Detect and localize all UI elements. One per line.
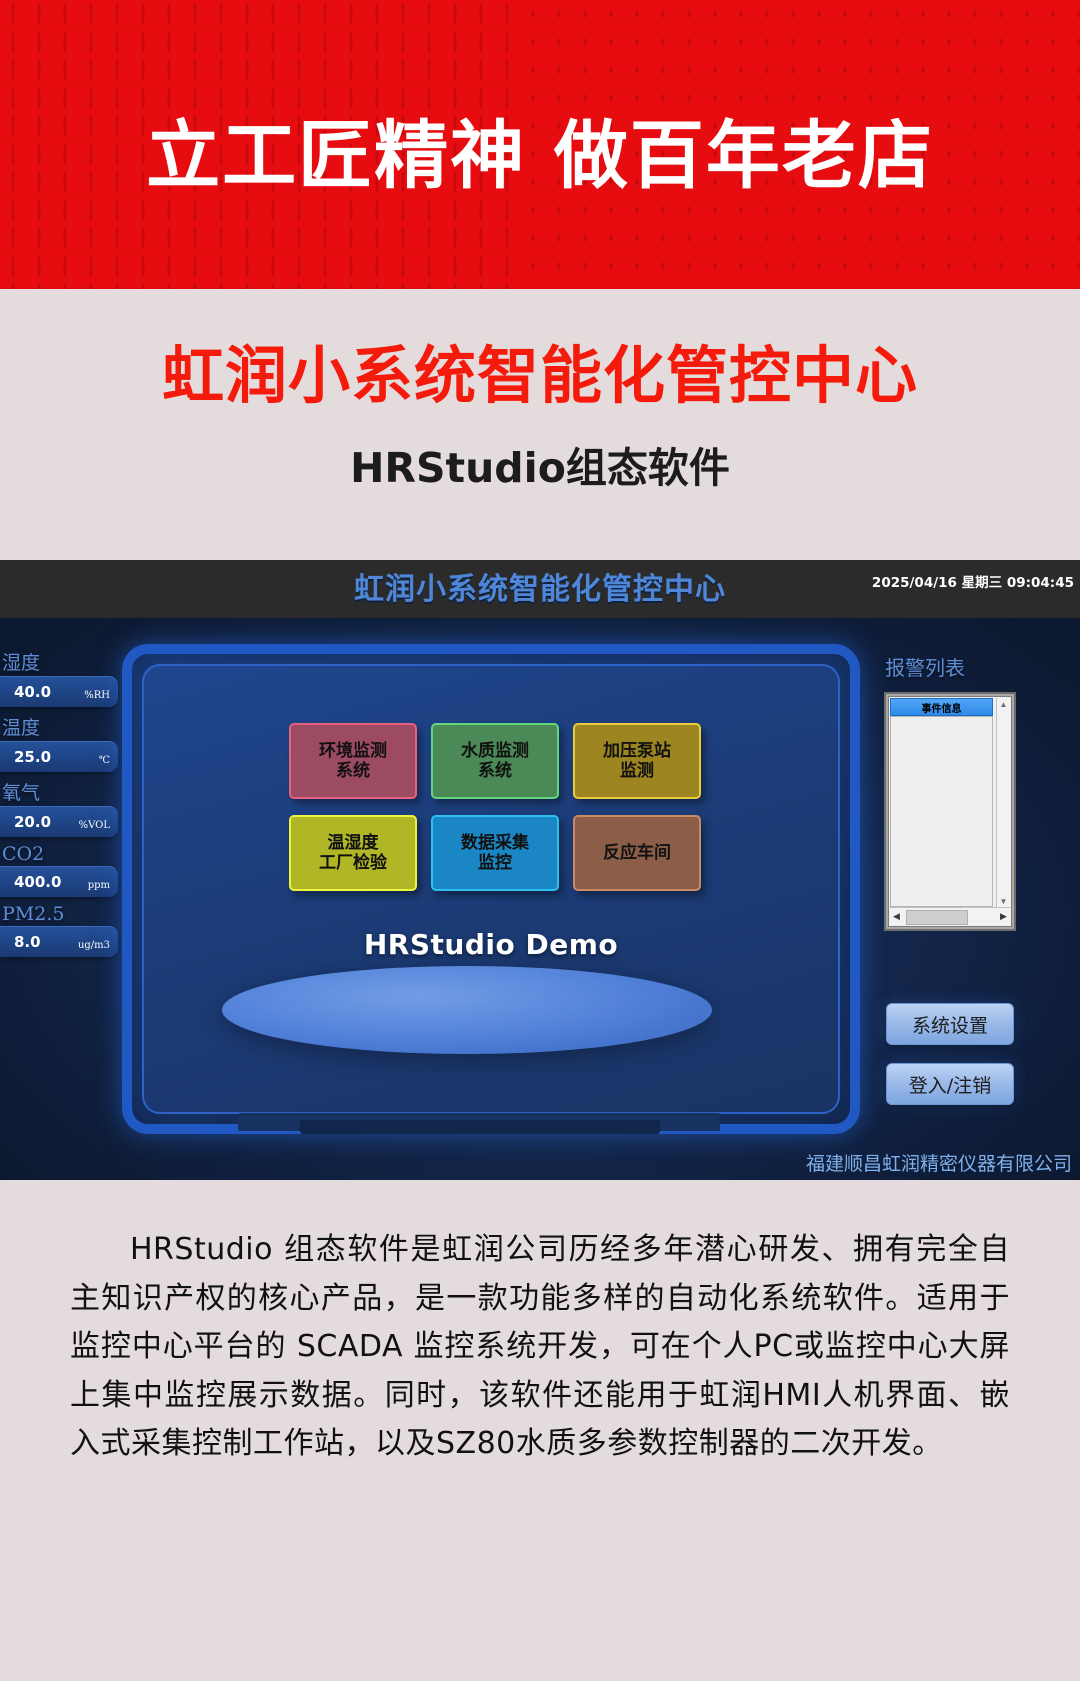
alarm-horizontal-scrollbar[interactable]: ◀ ▶ bbox=[890, 907, 1010, 925]
hmi-screenshot: /// /// 虹润小系统智能化管控中心 2025/04/16 星期三 09:0… bbox=[0, 560, 1080, 1180]
sensor-label: 氧气 bbox=[0, 778, 118, 805]
module-button-line1: 环境监测 bbox=[319, 741, 387, 761]
alarm-column-header: 事件信息 bbox=[890, 698, 993, 716]
sensor-label: CO2 bbox=[0, 843, 118, 865]
scroll-up-icon[interactable]: ▲ bbox=[997, 698, 1010, 710]
monitor-frame: 环境监测系统 水质监测系统 加压泵站监测 温湿度工厂检验 数据采集监控 bbox=[122, 644, 860, 1134]
scroll-thumb[interactable] bbox=[906, 910, 968, 925]
module-button-pump-station[interactable]: 加压泵站监测 bbox=[573, 723, 701, 799]
hmi-datetime: 2025/04/16 星期三 09:04:45 bbox=[872, 571, 1074, 591]
sensor-item-co2: CO2 400.0 ppm bbox=[0, 843, 118, 897]
scroll-left-icon[interactable]: ◀ bbox=[890, 908, 903, 925]
alarm-list-inner: 事件信息 ▲ ▼ ◀ ▶ bbox=[888, 696, 1012, 927]
module-button-temp-humidity-factory[interactable]: 温湿度工厂检验 bbox=[289, 815, 417, 891]
sensor-item-oxygen: 氧气 20.0 %VOL bbox=[0, 778, 118, 837]
sensor-readout: 400.0 ppm bbox=[0, 866, 118, 897]
module-button-water-quality[interactable]: 水质监测系统 bbox=[431, 723, 559, 799]
system-settings-button[interactable]: 系统设置 bbox=[886, 1003, 1014, 1045]
module-button-line2: 监测 bbox=[603, 761, 671, 781]
sensor-item-pm25: PM2.5 8.0 ug/m3 bbox=[0, 903, 118, 957]
red-slogan-banner: 立工匠精神 做百年老店 bbox=[0, 0, 1080, 289]
module-button-line2: 工厂检验 bbox=[319, 853, 387, 873]
decorative-ellipse bbox=[222, 966, 712, 1054]
sensor-unit: ℃ bbox=[99, 755, 110, 766]
sensor-item-humidity: 湿度 40.0 %RH bbox=[0, 648, 118, 707]
module-button-line2: 系统 bbox=[319, 761, 387, 781]
company-name: 福建顺昌虹润精密仪器有限公司 bbox=[806, 1149, 1072, 1176]
module-button-line2: 系统 bbox=[461, 761, 529, 781]
monitor-foot bbox=[300, 1120, 660, 1134]
sensor-readout: 20.0 %VOL bbox=[0, 806, 118, 837]
sensor-rail: 湿度 40.0 %RH 温度 25.0 ℃ 氧气 20.0 %VOL bbox=[0, 648, 118, 963]
alarm-list-body[interactable] bbox=[890, 716, 993, 907]
banner-slogan: 立工匠精神 做百年老店 bbox=[0, 96, 1080, 203]
page-title: 虹润小系统智能化管控中心 bbox=[0, 325, 1080, 415]
sensor-unit: %RH bbox=[84, 690, 110, 701]
sensor-label: PM2.5 bbox=[0, 903, 118, 925]
hmi-header-title: 虹润小系统智能化管控中心 bbox=[290, 564, 790, 608]
demo-watermark: HRStudio Demo bbox=[144, 928, 838, 961]
title-block: 虹润小系统智能化管控中心 HRStudio组态软件 bbox=[0, 289, 1080, 560]
sensor-unit: %VOL bbox=[79, 820, 110, 831]
module-button-line1: 数据采集 bbox=[461, 833, 529, 853]
monitor-screen: 环境监测系统 水质监测系统 加压泵站监测 温湿度工厂检验 数据采集监控 bbox=[142, 664, 840, 1114]
alarm-panel-title: 报警列表 bbox=[885, 652, 965, 681]
scroll-down-icon[interactable]: ▼ bbox=[997, 895, 1010, 907]
sensor-value: 25.0 bbox=[14, 748, 51, 766]
sensor-label: 湿度 bbox=[0, 648, 118, 675]
sensor-unit: ppm bbox=[88, 880, 110, 891]
module-button-line1: 水质监测 bbox=[461, 741, 529, 761]
sensor-readout: 40.0 %RH bbox=[0, 676, 118, 707]
module-button-line1: 加压泵站 bbox=[603, 741, 671, 761]
product-promo-page: 立工匠精神 做百年老店 虹润小系统智能化管控中心 HRStudio组态软件 //… bbox=[0, 0, 1080, 1681]
sensor-readout: 25.0 ℃ bbox=[0, 741, 118, 772]
sensor-unit: ug/m3 bbox=[78, 940, 110, 951]
alarm-vertical-scrollbar[interactable]: ▲ ▼ bbox=[996, 698, 1010, 907]
alarm-list-panel: 事件信息 ▲ ▼ ◀ ▶ bbox=[884, 692, 1016, 931]
description-paragraph: HRStudio 组态软件是虹润公司历经多年潜心研发、拥有完全自主知识产权的核心… bbox=[70, 1226, 1010, 1469]
sensor-value: 400.0 bbox=[14, 873, 61, 891]
module-button-line1: 温湿度 bbox=[319, 833, 387, 853]
sensor-value: 40.0 bbox=[14, 683, 51, 701]
module-button-line2: 监控 bbox=[461, 853, 529, 873]
scroll-right-icon[interactable]: ▶ bbox=[997, 908, 1010, 925]
sensor-item-temperature: 温度 25.0 ℃ bbox=[0, 713, 118, 772]
sensor-value: 8.0 bbox=[14, 933, 41, 951]
login-logout-button[interactable]: 登入/注销 bbox=[886, 1063, 1014, 1105]
module-button-grid: 环境监测系统 水质监测系统 加压泵站监测 温湿度工厂检验 数据采集监控 bbox=[289, 723, 719, 891]
description-section: HRStudio 组态软件是虹润公司历经多年潜心研发、拥有完全自主知识产权的核心… bbox=[0, 1180, 1080, 1681]
page-subtitle: HRStudio组态软件 bbox=[0, 434, 1080, 494]
sensor-label: 温度 bbox=[0, 713, 118, 740]
module-button-line1: 反应车间 bbox=[603, 843, 671, 863]
sensor-readout: 8.0 ug/m3 bbox=[0, 926, 118, 957]
module-button-environment[interactable]: 环境监测系统 bbox=[289, 723, 417, 799]
module-button-reaction-workshop[interactable]: 反应车间 bbox=[573, 815, 701, 891]
sensor-value: 20.0 bbox=[14, 813, 51, 831]
module-button-data-acquisition[interactable]: 数据采集监控 bbox=[431, 815, 559, 891]
